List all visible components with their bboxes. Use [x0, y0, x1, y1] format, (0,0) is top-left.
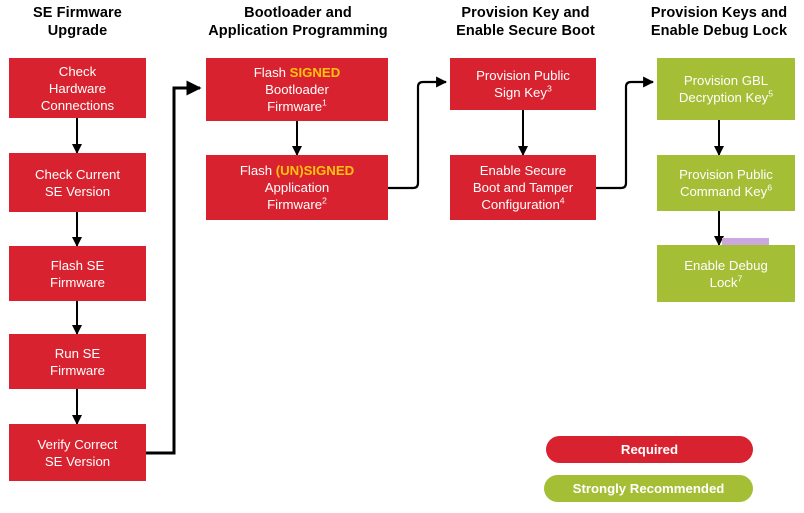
node-footnote: 7 [738, 273, 743, 283]
node-footnote: 2 [322, 196, 327, 206]
node-footnote: 4 [560, 196, 565, 206]
column-header-bootloader-application-programming: Bootloader and Application Programming [200, 4, 396, 40]
node-line-2: SE Version [45, 454, 110, 469]
node-line-2: Boot and Tamper [473, 180, 573, 195]
column-header-provision-keys-enable-debug-lock: Provision Keys and Enable Debug Lock [635, 4, 803, 40]
node-line-2: Bootloader [265, 82, 329, 97]
node-line-3: Firmware [267, 197, 322, 212]
node-line-2: Hardware [49, 81, 106, 96]
connector-enable-secure-boot-to-provision-gbl-key [596, 82, 653, 188]
node-line-1: Run SE [55, 346, 100, 361]
node-footnote: 6 [767, 183, 772, 193]
node-flash-signed-bootloader-firmware[interactable]: Flash SIGNED Bootloader Firmware1 [206, 58, 388, 121]
node-line-1: Verify Correct [38, 437, 118, 452]
column-header-provision-key-enable-secure-boot: Provision Key and Enable Secure Boot [443, 4, 608, 40]
node-line-1: Enable Debug [684, 258, 768, 273]
node-footnote: 1 [322, 98, 327, 108]
column-header-line2: Enable Debug Lock [635, 22, 803, 40]
node-line-1-highlight: SIGNED [290, 65, 341, 80]
column-header-line1: SE Firmware [5, 4, 150, 22]
node-line-3: Firmware [267, 99, 322, 114]
node-check-current-se-version[interactable]: Check Current SE Version [9, 153, 146, 212]
node-footnote: 5 [768, 89, 773, 99]
node-check-hardware-connections[interactable]: Check Hardware Connections [9, 58, 146, 118]
node-line-2: Sign Key [494, 85, 547, 100]
node-line-2: Lock [710, 275, 738, 290]
column-header-line1: Provision Key and [443, 4, 608, 22]
flowchart-canvas: SE Firmware Upgrade Bootloader and Appli… [0, 0, 804, 513]
node-line-2: Firmware [50, 275, 105, 290]
node-provision-public-command-key[interactable]: Provision Public Command Key6 [657, 155, 795, 211]
node-enable-debug-lock[interactable]: Enable Debug Lock7 [657, 245, 795, 302]
node-line-1: Flash SE [51, 258, 105, 273]
node-run-se-firmware[interactable]: Run SE Firmware [9, 334, 146, 389]
legend-item-strongly-recommended: Strongly Recommended [544, 475, 753, 502]
connector-flash-application-to-provision-sign-key [388, 82, 446, 188]
legend-label: Strongly Recommended [573, 481, 725, 496]
legend-item-required: Required [546, 436, 753, 463]
node-provision-public-sign-key[interactable]: Provision Public Sign Key3 [450, 58, 596, 110]
node-flash-unsigned-application-firmware[interactable]: Flash (UN)SIGNED Application Firmware2 [206, 155, 388, 220]
node-line-1-prefix: Flash [240, 163, 276, 178]
column-header-se-firmware-upgrade: SE Firmware Upgrade [5, 4, 150, 40]
node-footnote: 3 [547, 84, 552, 94]
node-line-1: Provision Public [679, 167, 773, 182]
column-header-line2: Enable Secure Boot [443, 22, 608, 40]
column-header-line2: Application Programming [200, 22, 396, 40]
node-line-1-prefix: Flash [254, 65, 290, 80]
connector-verify-to-flash-signed-bootloader [145, 88, 200, 453]
node-flash-se-firmware[interactable]: Flash SE Firmware [9, 246, 146, 301]
node-line-1: Check Current [35, 167, 120, 182]
node-line-1: Enable Secure [480, 163, 567, 178]
column-header-line2: Upgrade [5, 22, 150, 40]
node-enable-secure-boot-and-tamper-configuration[interactable]: Enable Secure Boot and Tamper Configurat… [450, 155, 596, 220]
node-verify-correct-se-version[interactable]: Verify Correct SE Version [9, 424, 146, 481]
node-line-2: Decryption Key [679, 90, 768, 105]
column-header-line1: Provision Keys and [635, 4, 803, 22]
node-line-2: Firmware [50, 363, 105, 378]
node-line-2: SE Version [45, 184, 110, 199]
node-line-1-highlight: (UN)SIGNED [276, 163, 354, 178]
node-line-1: Provision GBL [684, 73, 768, 88]
node-line-1: Check [59, 64, 96, 79]
node-line-1: Provision Public [476, 68, 570, 83]
node-provision-gbl-decryption-key[interactable]: Provision GBL Decryption Key5 [657, 58, 795, 120]
node-line-3: Configuration [481, 197, 559, 212]
node-line-2: Application [265, 180, 330, 195]
column-header-line1: Bootloader and [200, 4, 396, 22]
node-line-3: Connections [41, 98, 114, 113]
legend-label: Required [621, 442, 678, 457]
node-line-2: Command Key [680, 184, 767, 199]
